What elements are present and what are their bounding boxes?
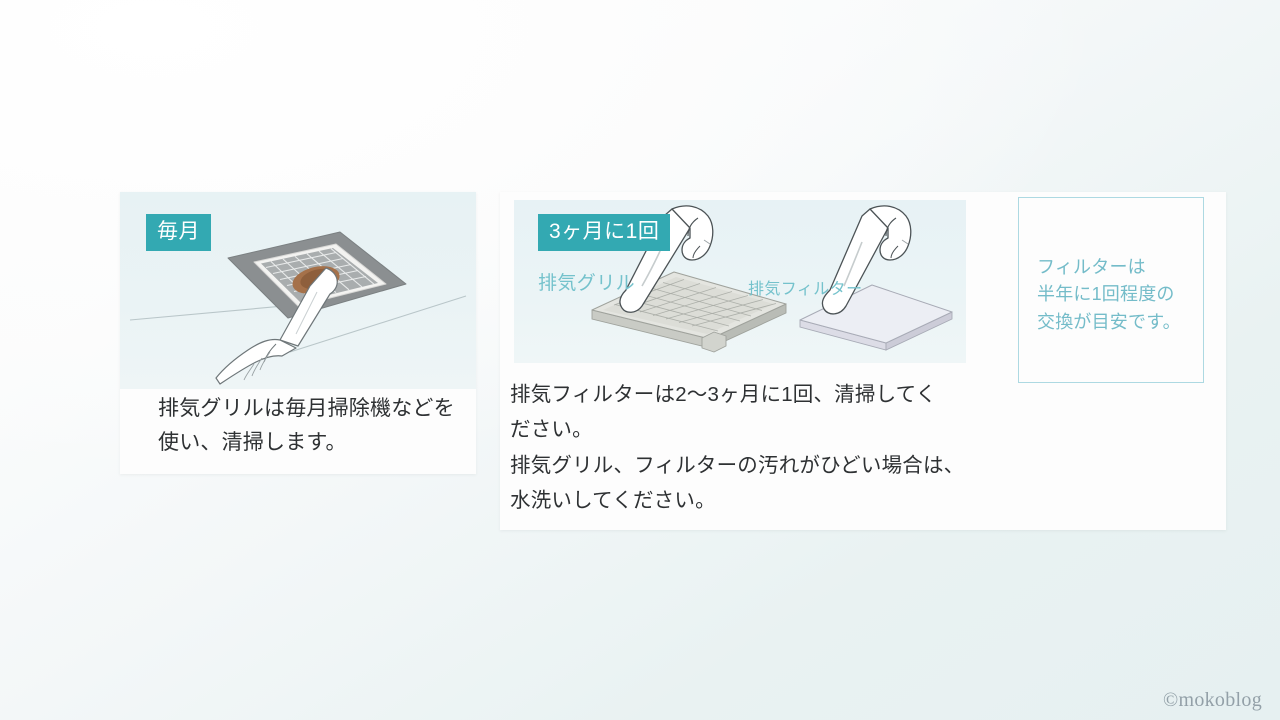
monthly-illustration: 毎月 (120, 192, 476, 389)
label-exhaust-filter: 排気フィルター (748, 275, 862, 299)
quarterly-cleaning-card: 3ヶ月に1回 排気グリル 排気フィルター 排気フィルターは2～3ヶ月に1回、清掃… (500, 192, 1226, 530)
quarterly-illustration: 3ヶ月に1回 排気グリル 排気フィルター (514, 200, 966, 363)
filter-replacement-note-text: フィルターは 半年に1回程度の 交換が目安です。 (1037, 254, 1181, 336)
badge-monthly: 毎月 (146, 214, 211, 251)
label-exhaust-grill: 排気グリル (538, 268, 635, 295)
quarterly-caption: 排気フィルターは2～3ヶ月に1回、清掃してく ださい。 排気グリル、フィルターの… (510, 377, 1010, 518)
page-stage: 毎月 排気グリルは毎月掃除機などを 使い、清掃します。 (0, 0, 1280, 720)
watermark: ©mokoblog (1163, 689, 1262, 712)
filter-replacement-note: フィルターは 半年に1回程度の 交換が目安です。 (1018, 197, 1204, 383)
badge-quarterly: 3ヶ月に1回 (538, 214, 670, 251)
monthly-cleaning-card: 毎月 排気グリルは毎月掃除機などを 使い、清掃します。 (120, 192, 476, 474)
monthly-caption: 排気グリルは毎月掃除機などを 使い、清掃します。 (158, 392, 468, 460)
